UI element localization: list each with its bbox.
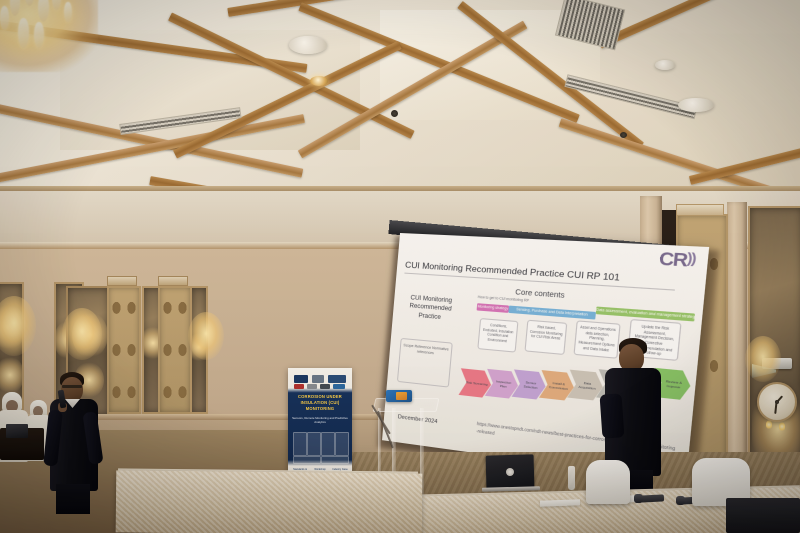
banner-subtitle: Sensors, Remote Monitoring and Predictiv… [292, 416, 348, 425]
chandelier [0, 0, 98, 72]
panel-grille [107, 276, 137, 286]
chandelier-crystal [34, 22, 44, 48]
wall-sconce [0, 296, 36, 356]
ceiling-speaker [655, 60, 675, 70]
slide-band: Sensing, Purchase and Data Interpretatio… [508, 306, 596, 320]
chandelier-crystal [38, 0, 49, 22]
cr-logo-text: CR [658, 248, 688, 271]
candle-flame [779, 422, 785, 431]
ceiling [0, 0, 800, 216]
banner-logo [328, 375, 346, 383]
presenter-folded-arm [599, 393, 624, 438]
sprinkler-head [391, 110, 398, 117]
ceiling-speaker [678, 98, 714, 112]
speaker-glasses [62, 385, 82, 388]
chandelier-crystal [18, 18, 29, 48]
photograph: CR)) CUI Monitoring Recommended Practice… [0, 0, 800, 533]
microphone-head [676, 496, 685, 505]
banner-logo [294, 384, 304, 389]
wall-sconce [745, 336, 781, 382]
speaker-with-microphone [44, 372, 106, 512]
banner-tile [293, 432, 307, 456]
recessed-downlight [310, 76, 328, 86]
banner-logo [294, 375, 308, 383]
slide-left-box: Scope Reference Normative references [397, 338, 453, 388]
chandelier-crystal [0, 6, 9, 30]
slide-left-label: CUI Monitoring Recommended Practice [398, 294, 463, 324]
banner-logo [312, 375, 324, 383]
cr-logo: CR)) [658, 249, 696, 270]
speaker-trousers [56, 484, 90, 514]
water-bottle [568, 466, 575, 490]
damask-wall-panel [158, 286, 192, 414]
banner-logo-row [288, 370, 352, 388]
sprinkler-head [620, 132, 627, 138]
rollup-banner: CORROSION UNDER INSULATION (CUI) MONITOR… [288, 368, 352, 486]
slide-date: December 2024 [398, 414, 438, 425]
laptop-logo [506, 468, 514, 476]
dark-equipment-case [726, 498, 800, 533]
chandelier-crystal [52, 0, 61, 10]
clock-center-pin [775, 400, 779, 404]
handheld-microphone [640, 494, 664, 502]
wall-clock [757, 382, 797, 422]
transom-panel [676, 204, 724, 216]
ceiling-speaker [289, 36, 327, 54]
banner-tile [321, 456, 349, 464]
chandelier-crystal [25, 0, 34, 6]
banner-logo [320, 384, 330, 389]
signal-wave-icon: )) [686, 251, 696, 266]
banner-tile [321, 432, 335, 456]
chandelier-crystal [64, 2, 72, 22]
draped-tablecloth [116, 470, 423, 533]
banner-logo [307, 384, 317, 389]
banquet-chair [586, 460, 630, 504]
side-laptop [6, 424, 28, 438]
wall-sconce [62, 308, 102, 360]
slide-text-box: Risk based, Corrosion Monitoring for CUI… [524, 320, 567, 355]
device-display [396, 392, 407, 400]
slide-band: Monitoring strategy [477, 303, 509, 313]
banner-title: CORROSION UNDER INSULATION (CUI) MONITOR… [292, 394, 348, 412]
cornice-moulding [0, 186, 800, 191]
mirror-glow [0, 356, 24, 394]
panel-grille [158, 276, 188, 286]
damask-wall-panel [107, 286, 141, 414]
slide-text-box: Conditions, Excluded, Insulation Conditi… [477, 318, 518, 353]
microphone-head [634, 494, 643, 503]
banner-tile [335, 432, 349, 456]
banner-tile [307, 432, 321, 456]
wall-sconce [188, 312, 224, 360]
banner-logo [333, 384, 345, 389]
chandelier-crystal [10, 0, 20, 16]
banner-tile [293, 456, 321, 464]
